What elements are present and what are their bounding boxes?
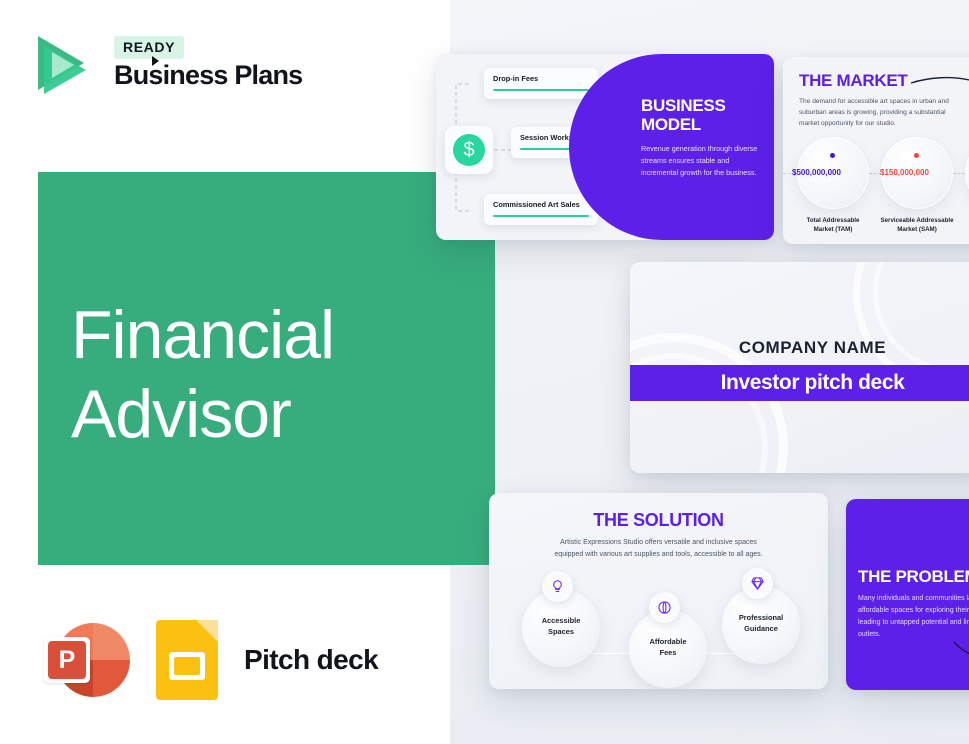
- business-model-panel: BUSINESS MODEL Revenue generation throug…: [569, 54, 774, 240]
- metric-value-2: $150,000,000: [880, 168, 929, 177]
- dollar-sign-icon: $: [453, 134, 485, 166]
- pitch-deck-title: Investor pitch deck: [721, 371, 905, 395]
- item-underline: [493, 89, 589, 91]
- solution-node-1-label: Accessible Spaces: [515, 616, 607, 637]
- dash-connector: [953, 173, 965, 174]
- item-label: Drop-in Fees: [493, 74, 589, 83]
- slide-the-problem[interactable]: THE PROBLEM Many individuals and communi…: [846, 499, 969, 690]
- page-title: Financial Advisor: [71, 296, 471, 454]
- powerpoint-icon: P: [44, 617, 130, 703]
- company-name: COMPANY NAME: [630, 338, 969, 358]
- brand-logo: READY Business Plans: [38, 32, 302, 94]
- metric-dot-2: [914, 153, 919, 158]
- slide-the-market[interactable]: THE MARKET The demand for accessible art…: [783, 57, 969, 244]
- business-model-item-3: Commissioned Art Sales: [484, 194, 598, 225]
- brand-name-line: Business Plans: [114, 61, 302, 89]
- slide-description: Many individuals and communities lack ac…: [858, 593, 969, 641]
- metric-caption-2: Serviceable Addressable Market (SAM): [862, 217, 969, 235]
- slide-the-solution[interactable]: THE SOLUTION Artistic Expressions Studio…: [489, 493, 828, 689]
- lightbulb-icon: [542, 571, 573, 602]
- item-label: Commissioned Art Sales: [493, 200, 589, 209]
- format-label: Pitch deck: [244, 644, 378, 676]
- ready-badge: READY: [114, 36, 184, 59]
- circle-target-icon: [649, 592, 680, 623]
- solution-node-3-label: Professional Guidance: [715, 613, 807, 634]
- pitch-deck-band: Investor pitch deck: [630, 365, 969, 401]
- page-title-line-2: Advisor: [71, 375, 471, 454]
- slide-title: BUSINESS MODEL: [641, 96, 767, 134]
- brand-text: READY Business Plans: [114, 36, 302, 89]
- slide-investor-pitch-deck[interactable]: COMPANY NAME Investor pitch deck: [630, 262, 969, 473]
- page-title-line-1: Financial: [71, 296, 471, 375]
- format-row: P Pitch deck: [44, 617, 378, 703]
- dollar-icon-container: $: [445, 126, 493, 174]
- powerpoint-letter: P: [48, 641, 86, 679]
- diamond-icon: [742, 568, 773, 599]
- item-underline: [493, 215, 589, 217]
- metric-value-1: $500,000,000: [792, 168, 841, 177]
- metric-dot-1: [830, 153, 835, 158]
- curved-arrow-icon: [909, 73, 969, 117]
- play-triangle-logo-icon: [38, 32, 100, 94]
- brand-name: Business Plans: [114, 61, 302, 89]
- slide-business-model[interactable]: Drop-in Fees Session Workshops Commissio…: [436, 54, 774, 240]
- slide-title-line-2: MODEL: [641, 115, 767, 134]
- market-metric-circle-3: [965, 137, 969, 209]
- slide-title: THE SOLUTION: [489, 510, 828, 531]
- google-slides-icon: [156, 620, 218, 700]
- swoosh-icon: [952, 638, 969, 664]
- slide-description: Artistic Expressions Studio offers versa…: [551, 537, 766, 562]
- poster-stage: READY Business Plans Financial Advisor P…: [0, 0, 969, 744]
- slide-description: Revenue generation through diverse strea…: [641, 143, 767, 179]
- slide-title: THE MARKET: [799, 71, 907, 91]
- slide-title-line-1: BUSINESS: [641, 96, 767, 115]
- slide-title: THE PROBLEM: [858, 567, 969, 587]
- small-play-icon: [152, 56, 159, 66]
- business-model-item-1: Drop-in Fees: [484, 68, 598, 99]
- solution-node-2-label: Affordable Fees: [622, 637, 714, 658]
